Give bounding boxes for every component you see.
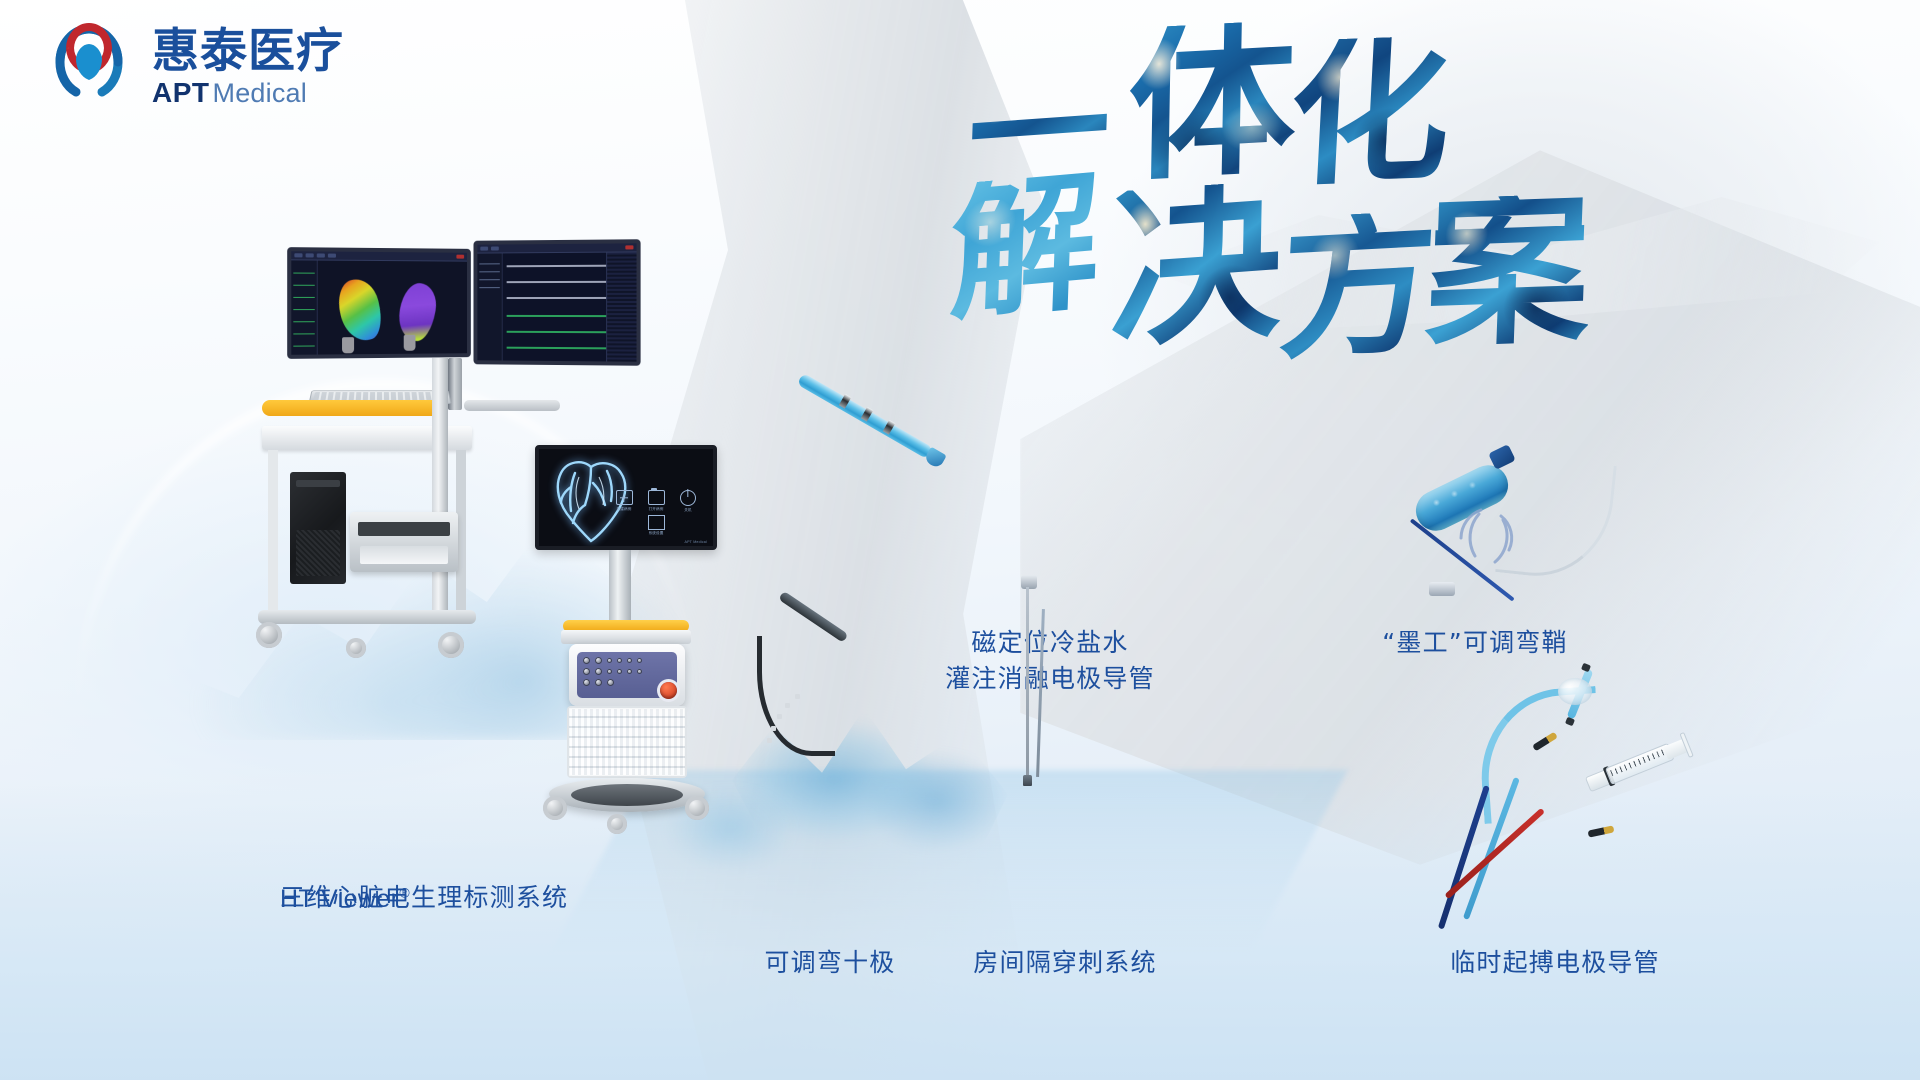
power-label: 关机	[680, 508, 696, 513]
ecg-viewport	[477, 252, 636, 361]
emergency-stop-button[interactable]	[660, 682, 677, 699]
cart-caster	[346, 638, 366, 658]
decapolar-catheter-icon	[755, 590, 915, 800]
brand-name-cn: 惠泰医疗	[152, 27, 344, 77]
workstation-tower	[290, 472, 346, 584]
system-name-cn: 三维心脏电生理标测系统	[280, 880, 580, 916]
touchscreen-brand-mark: APT Medical	[684, 540, 707, 544]
activation-map-chamber	[333, 275, 387, 345]
transseptal-system-label: 房间隔穿刺系统	[930, 945, 1200, 981]
display-stem	[609, 550, 631, 622]
generator-caster	[685, 796, 709, 820]
brand-wordmark: 惠泰医疗 APT Medical	[152, 27, 344, 107]
brand-name-en: APT Medical	[152, 79, 344, 107]
3d-mapping-monitor	[287, 247, 471, 359]
port-row-top[interactable]	[583, 657, 671, 664]
ecg-channel-list	[477, 253, 502, 360]
transseptal-puncture-icon	[985, 575, 1075, 815]
new-case-button[interactable]: 新建病例	[616, 490, 633, 513]
port-row-mid[interactable]	[583, 668, 671, 675]
rf-generator-console	[569, 644, 685, 706]
new-case-label: 新建病例	[616, 507, 633, 512]
headline-calligraphy: 一 体 化 解 决 方 案	[960, 28, 1600, 338]
pacing-catheter-label: 临时起搏电极导管	[1400, 945, 1710, 981]
ecg-recording-monitor	[473, 239, 640, 366]
map-tail-a	[342, 337, 354, 353]
headline-char-6: 方	[1276, 210, 1439, 362]
cart-base-bar	[258, 610, 476, 624]
decapolar-catheter-label: 可调弯十极	[720, 945, 940, 981]
cart-caster	[256, 622, 282, 648]
touchscreen-icon-grid[interactable]: 新建病例 打开病例 关机 系统设置	[609, 490, 703, 536]
map-tail-b	[404, 335, 416, 351]
cart-handle-yellow[interactable]	[262, 400, 444, 416]
generator-touchscreen[interactable]: 新建病例 打开病例 关机 系统设置 APT Medical	[535, 445, 717, 550]
generator-shelf	[561, 630, 691, 644]
generator-caster	[543, 796, 567, 820]
headline-char-3: 化	[1286, 35, 1454, 188]
settings-label: 系统设置	[648, 531, 665, 536]
brand-apt: APT	[152, 79, 210, 107]
headline-char-5: 决	[1109, 180, 1283, 351]
report-printer	[350, 512, 458, 572]
generator-base-inner	[571, 784, 683, 806]
mapping-viewport	[291, 260, 467, 354]
irrigated-ablation-catheter-icon	[790, 360, 970, 500]
generator-basket	[567, 706, 687, 778]
headline-char-4: 解	[948, 171, 1102, 323]
generator-caster	[607, 814, 627, 834]
open-case-button[interactable]: 打开病例	[648, 490, 665, 513]
port-row-bottom[interactable]	[583, 679, 671, 686]
voltage-map-chamber	[395, 280, 440, 343]
ecg-wave-panel	[503, 252, 637, 361]
poster-canvas: 惠泰医疗 APT Medical 一 体 化 解 决 方 案	[0, 0, 1920, 1080]
open-case-label: 打开病例	[648, 507, 665, 512]
generator-cart: 新建病例 打开病例 关机 系统设置 APT Medical	[535, 440, 755, 860]
mapping-side-traces	[291, 260, 317, 354]
headline-char-7: 案	[1423, 193, 1592, 350]
ecg-ticker-strip	[606, 252, 636, 361]
cart-caster	[438, 632, 464, 658]
brand-medical: Medical	[213, 80, 307, 107]
temporary-pacing-catheter-icon	[1480, 560, 1780, 860]
apt-medical-logo-icon	[40, 18, 138, 116]
power-button[interactable]: 关机	[680, 490, 696, 513]
settings-button[interactable]: 系统设置	[648, 515, 665, 537]
monitor-arm-horizontal	[464, 400, 560, 411]
brand-logo: 惠泰医疗 APT Medical	[40, 18, 344, 116]
sheath-curve-arcs	[1451, 492, 1529, 570]
